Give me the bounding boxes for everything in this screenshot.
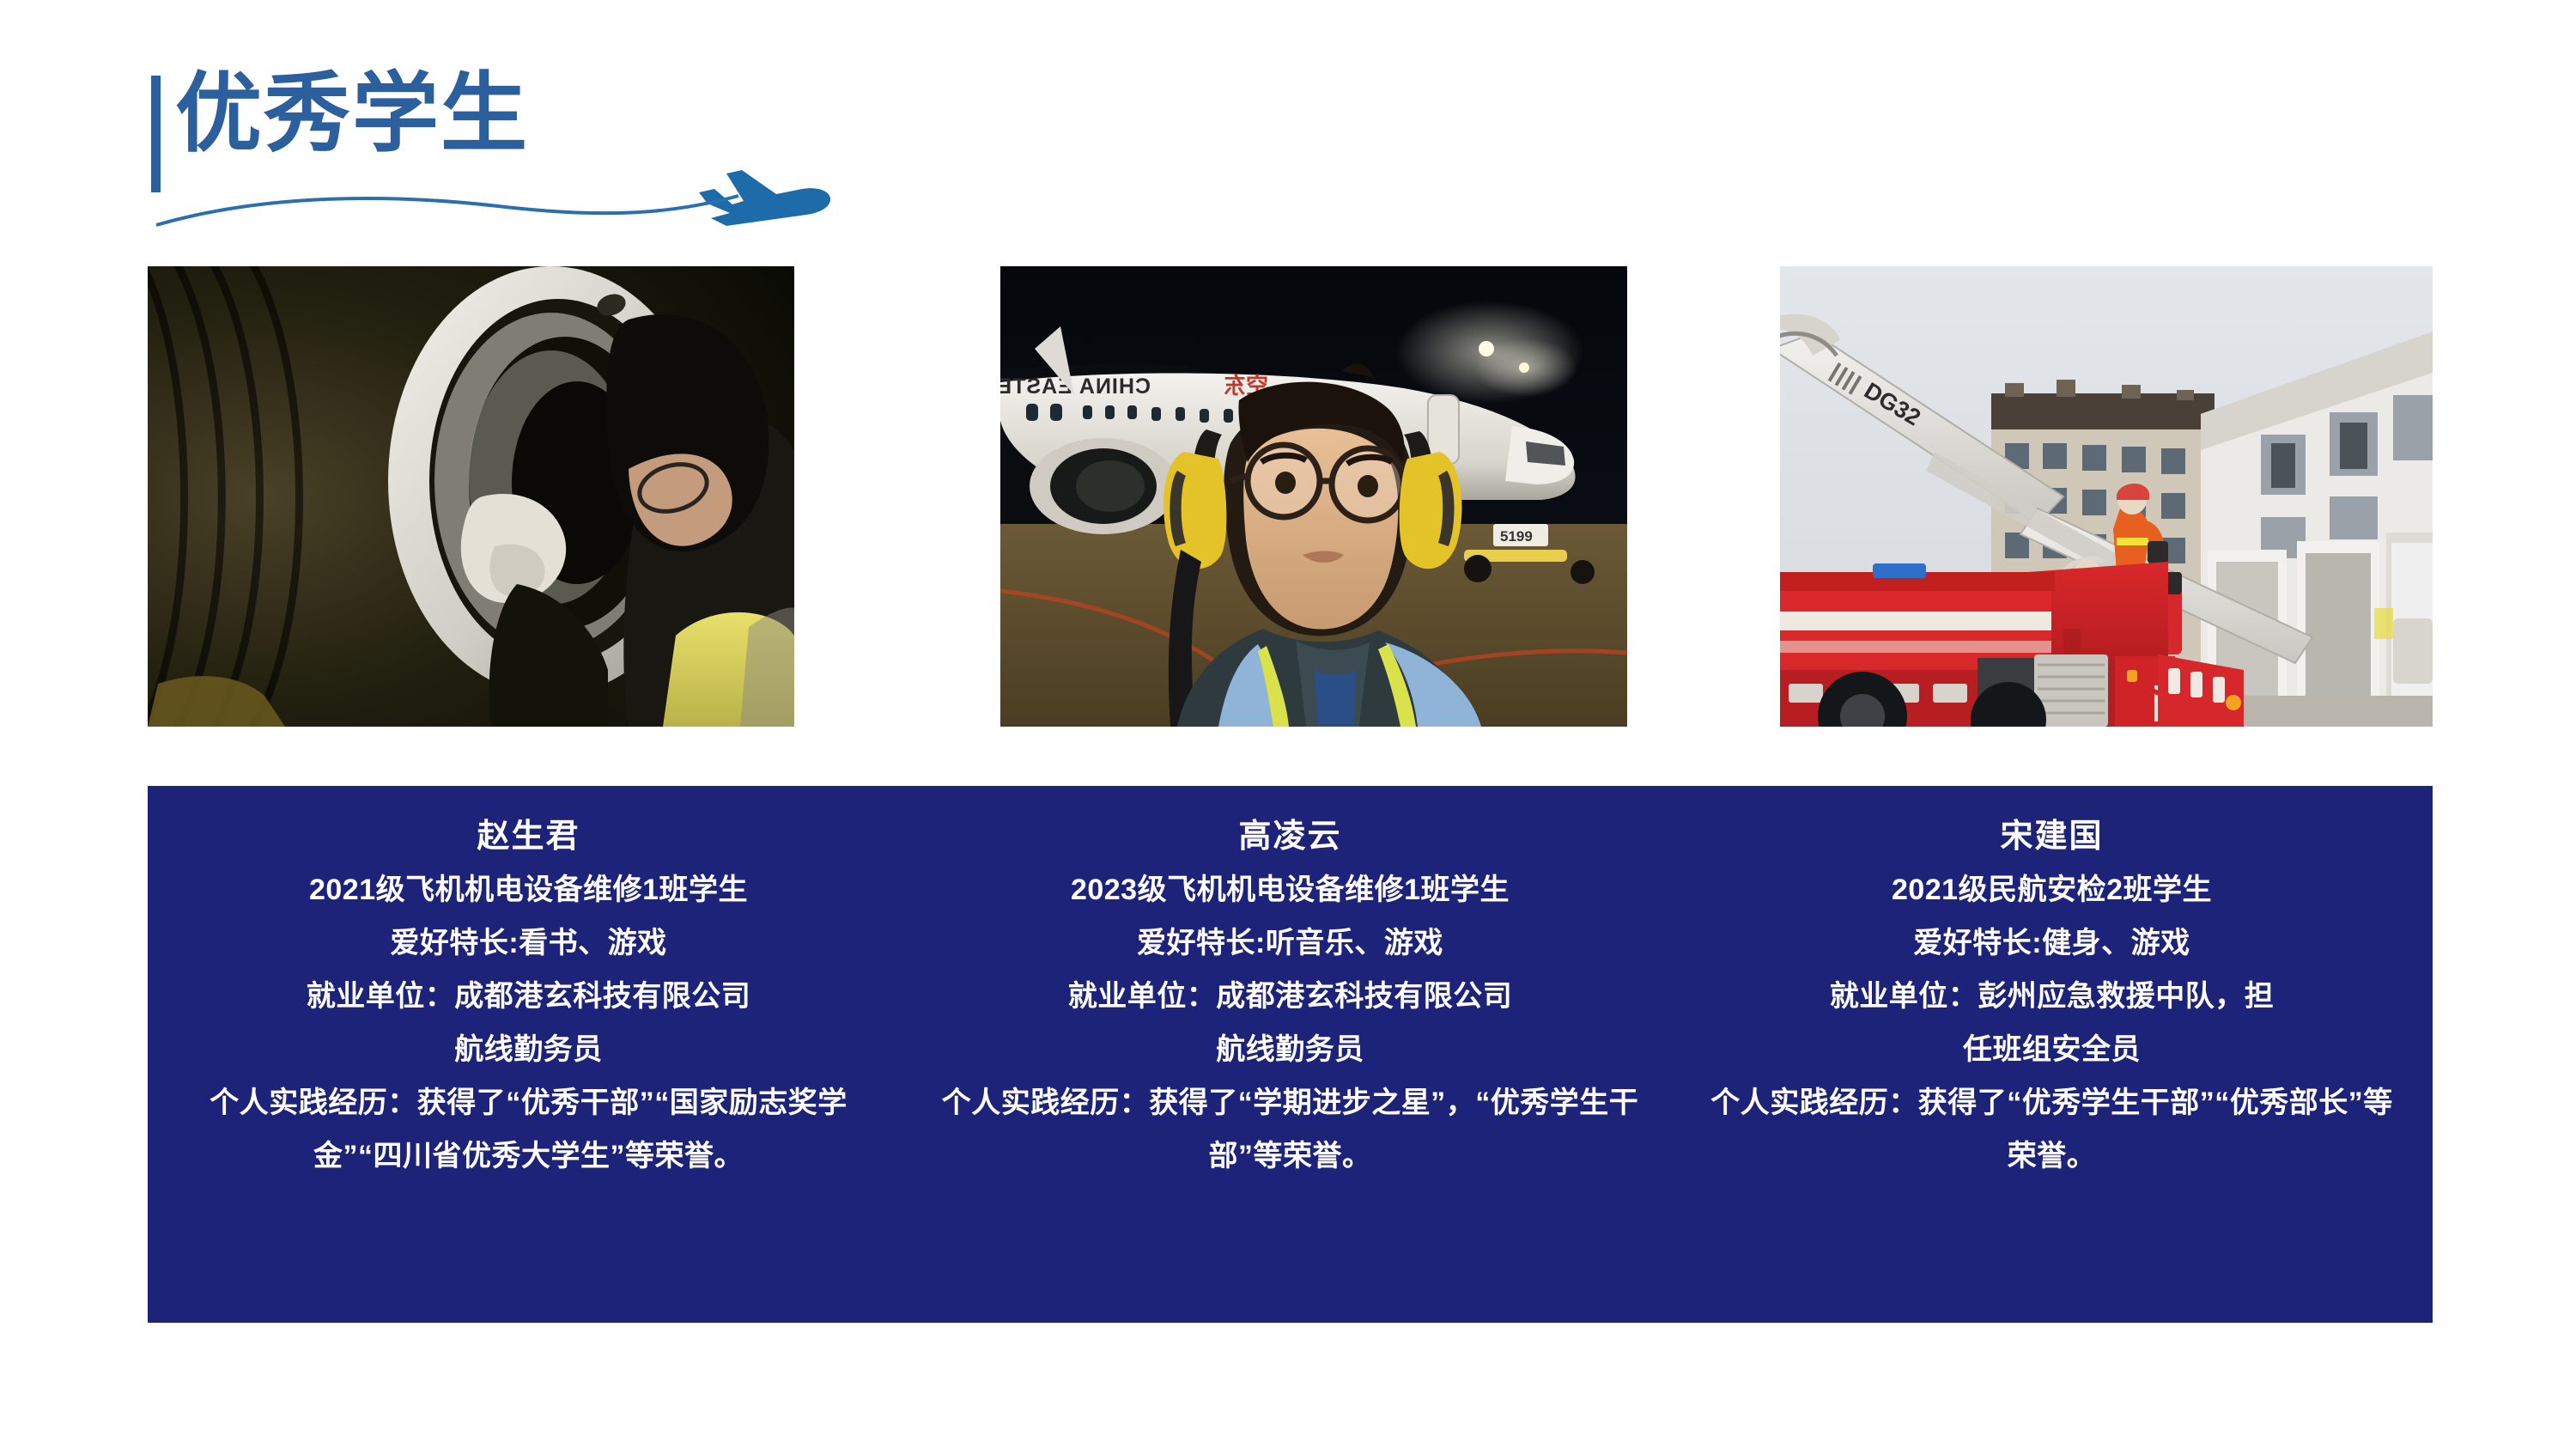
page-title: 优秀学生 xyxy=(175,50,529,179)
student-experience: 个人实践经历：获得了“学期进步之星”，“优秀学生干部”等荣誉。 xyxy=(939,1076,1642,1183)
student-info-panel: 赵生君 2021级飞机机电设备维修1班学生 爱好特长:看书、游戏 就业单位：成都… xyxy=(148,786,2433,1323)
student-experience: 个人实践经历：获得了“优秀学生干部”“优秀部长”等荣誉。 xyxy=(1700,1076,2403,1183)
student-hobby: 爱好特长:看书、游戏 xyxy=(177,916,880,970)
page-header: 优秀学生 xyxy=(151,50,855,213)
student-name: 高凌云 xyxy=(939,810,1642,863)
student-info-column: 高凌云 2023级飞机机电设备维修1班学生 爱好特长:听音乐、游戏 就业单位：成… xyxy=(909,786,1671,1323)
student-employer-line-1: 就业单位：成都港玄科技有限公司 xyxy=(177,970,880,1023)
student-info-column: 赵生君 2021级飞机机电设备维修1班学生 爱好特长:看书、游戏 就业单位：成都… xyxy=(148,786,909,1323)
fire-rescue-aerial-platform-photo: DG32 xyxy=(1780,266,2433,727)
student-class: 2023级飞机机电设备维修1班学生 xyxy=(939,863,1642,916)
student-info-column: 宋建国 2021级民航安检2班学生 爱好特长:健身、游戏 就业单位：彭州应急救援… xyxy=(1671,786,2433,1323)
student-name: 宋建国 xyxy=(1700,810,2403,863)
student-class: 2021级飞机机电设备维修1班学生 xyxy=(177,863,880,916)
swoosh-curve-decoration xyxy=(155,161,841,230)
student-hobby: 爱好特长:听音乐、游戏 xyxy=(939,916,1642,970)
student-employer-line-1: 就业单位：成都港玄科技有限公司 xyxy=(939,970,1642,1023)
aircraft-wheel-inspection-photo xyxy=(148,266,794,727)
china-eastern-ramp-selfie-photo: CHINA EASTERN 空东 5199 xyxy=(1000,266,1627,727)
student-employer-line-2: 航线勤务员 xyxy=(177,1023,880,1076)
svg-text:CHINA EASTERN: CHINA EASTERN xyxy=(1000,374,1151,399)
student-hobby: 爱好特长:健身、游戏 xyxy=(1700,916,2403,970)
svg-text:5199: 5199 xyxy=(1500,528,1533,545)
student-photo-row: CHINA EASTERN 空东 5199 xyxy=(148,266,2433,727)
student-employer-line-2: 航线勤务员 xyxy=(939,1023,1642,1076)
student-class: 2021级民航安检2班学生 xyxy=(1700,863,2403,916)
student-employer-line-2: 任班组安全员 xyxy=(1700,1023,2403,1076)
student-experience: 个人实践经历：获得了“优秀干部”“国家励志奖学金”“四川省优秀大学生”等荣誉。 xyxy=(177,1076,880,1183)
student-employer-line-1: 就业单位：彭州应急救援中队，担 xyxy=(1700,970,2403,1023)
student-name: 赵生君 xyxy=(177,810,880,863)
